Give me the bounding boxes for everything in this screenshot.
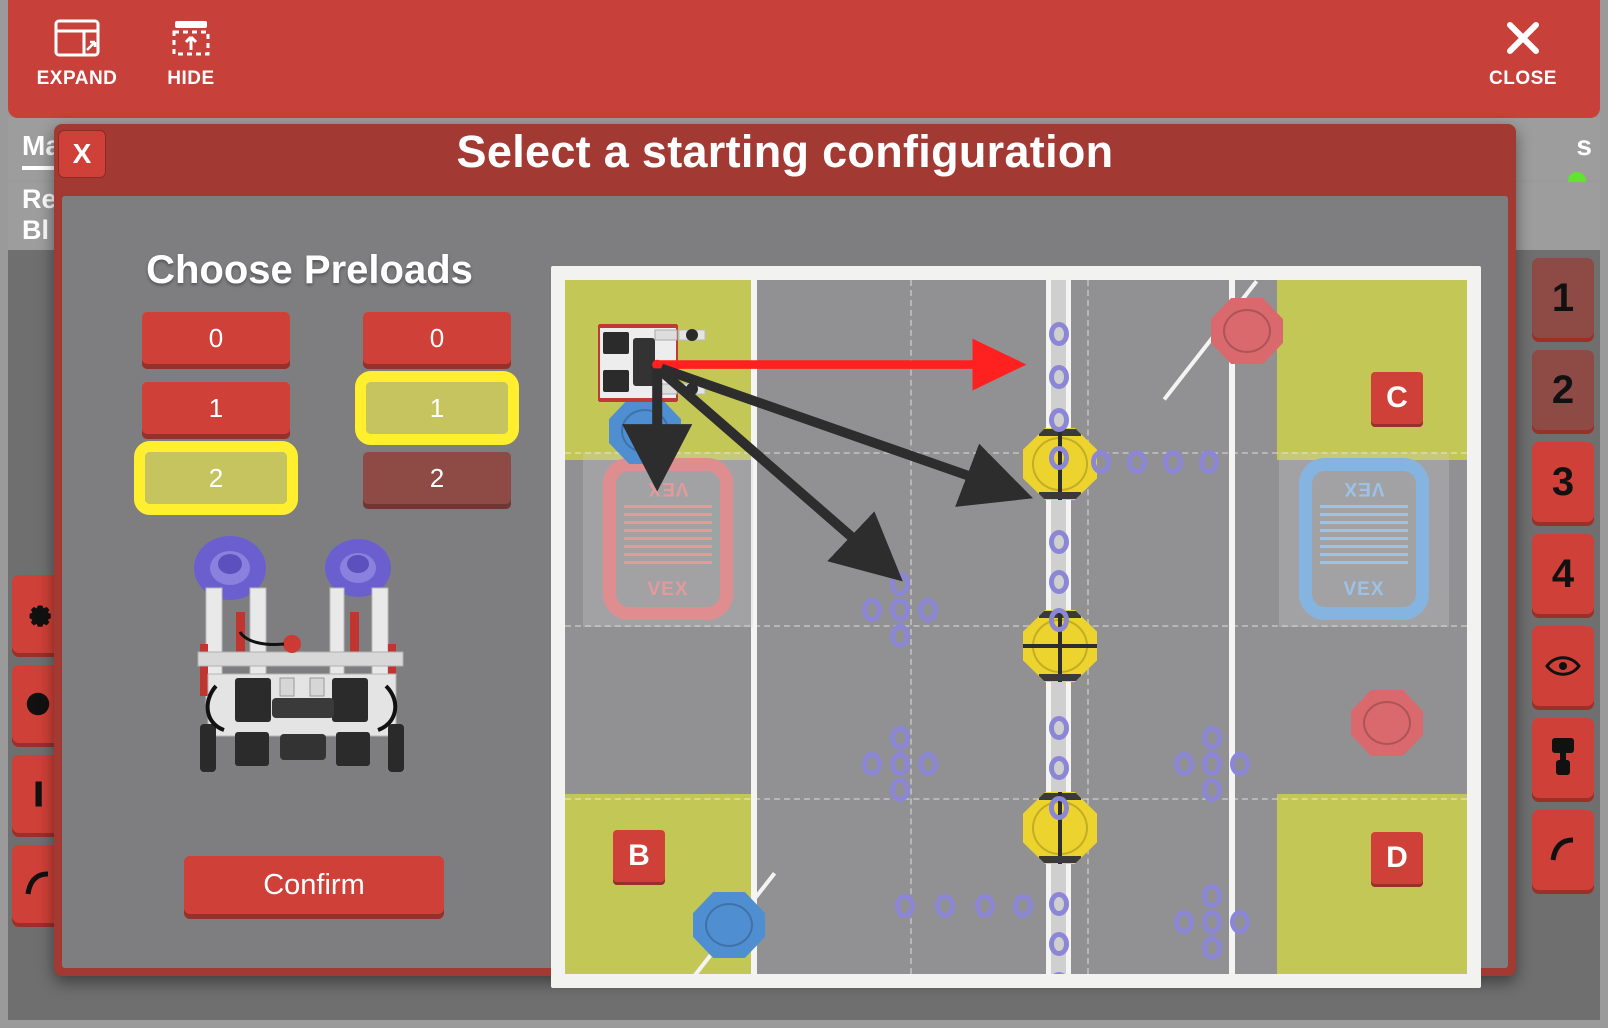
close-button[interactable]: CLOSE	[1482, 14, 1564, 90]
dumbbell-icon-button[interactable]	[1532, 718, 1594, 798]
ring-center-11	[1049, 892, 1069, 916]
eye-icon-button[interactable]	[1532, 626, 1594, 706]
expand-button[interactable]: EXPAND	[30, 14, 124, 90]
ring-cluster-ul-left	[862, 598, 882, 622]
preload-columns: 0 1 2 0 1 2	[134, 308, 534, 518]
hide-button[interactable]: HIDE	[148, 14, 234, 90]
field-floor[interactable]: VEX VEX VEX	[565, 280, 1467, 974]
ring-center-2	[1049, 365, 1069, 389]
dialog-header: X Select a starting configuration	[54, 124, 1516, 196]
preloads-pane: Choose Preloads 0 1 2 0 1 2	[62, 196, 557, 968]
expand-window-icon	[54, 14, 100, 62]
ring-cluster-mr-center	[1202, 752, 1222, 776]
ring-cluster-mr-bottom	[1202, 778, 1222, 802]
ring-cluster-lr-right	[1230, 910, 1250, 934]
preload-left-1[interactable]: 1	[142, 382, 290, 434]
ring-row-bottom-2	[935, 894, 955, 918]
ring-center-3	[1049, 408, 1069, 432]
ring-cluster-ul-bottom	[890, 624, 910, 648]
red-ladder-label-top: VEX	[616, 477, 720, 499]
red-stake-top-right	[1211, 298, 1283, 364]
ring-cluster-lr-center	[1202, 910, 1222, 934]
ring-cluster-mr-right	[1230, 752, 1250, 776]
ring-row-bottom-1	[895, 894, 915, 918]
zone-bottom-right	[1277, 794, 1467, 974]
ring-cluster-lr-bottom	[1202, 936, 1222, 960]
rail-button-4[interactable]: 4	[1532, 534, 1594, 614]
ring-cluster-ml-right	[918, 752, 938, 776]
ring-center-6	[1049, 570, 1069, 594]
preload-column-right: 0 1 2	[355, 308, 534, 518]
ring-cluster-mr-left	[1174, 752, 1194, 776]
dialog-title: Select a starting configuration	[54, 126, 1516, 178]
rail-button-1[interactable]: 1	[1532, 258, 1594, 338]
ring-center-1	[1049, 322, 1069, 346]
ring-cluster-ml-bottom	[890, 778, 910, 802]
position-tag-d[interactable]: D	[1371, 832, 1423, 884]
robot-start-marker	[593, 322, 711, 404]
tile-grid-v2	[910, 280, 912, 974]
ring-cluster-mr-top	[1202, 726, 1222, 750]
white-line-right	[1229, 280, 1235, 974]
ring-cluster-lr-top	[1202, 884, 1222, 908]
close-label: CLOSE	[1489, 68, 1557, 90]
position-tag-c[interactable]: C	[1371, 372, 1423, 424]
ring-center-12	[1049, 932, 1069, 956]
ring-center-4	[1049, 446, 1069, 470]
ring-cluster-ml-top	[890, 726, 910, 750]
blue-stake-top-left	[609, 398, 681, 464]
top-toolbar: EXPAND HIDE CLOSE	[8, 0, 1600, 118]
ring-row-top-4	[1199, 450, 1219, 474]
ring-row-top-2	[1127, 450, 1147, 474]
preload-right-0[interactable]: 0	[363, 312, 511, 364]
preload-column-left: 0 1 2	[134, 308, 313, 518]
rail-button-2[interactable]: 2	[1532, 350, 1594, 430]
curve-icon-button-right[interactable]	[1532, 810, 1594, 890]
preload-left-0[interactable]: 0	[142, 312, 290, 364]
blue-ladder-label-top: VEX	[1312, 477, 1416, 499]
starting-configuration-dialog: X Select a starting configuration Choose…	[54, 124, 1516, 976]
ring-row-bottom-4	[1013, 894, 1033, 918]
confirm-button[interactable]: Confirm	[184, 856, 444, 914]
red-ladder: VEX VEX	[603, 458, 733, 620]
ring-cluster-ml-center	[890, 752, 910, 776]
ring-cluster-ul-right	[918, 598, 938, 622]
dialog-body: Choose Preloads 0 1 2 0 1 2	[62, 196, 1508, 968]
blue-ladder: VEX VEX	[1299, 458, 1429, 620]
hide-panel-icon	[170, 14, 212, 62]
red-stake-bottom-right	[1351, 690, 1423, 756]
tab-right-partial[interactable]: s	[1576, 130, 1592, 162]
ring-cluster-ul-center	[890, 598, 910, 622]
ring-row-bottom-3	[975, 894, 995, 918]
ring-center-5	[1049, 530, 1069, 554]
ring-cluster-ul-top	[890, 572, 910, 596]
expand-label: EXPAND	[37, 68, 118, 90]
ring-cluster-lr-left	[1174, 910, 1194, 934]
ring-center-10	[1049, 796, 1069, 820]
white-line-left	[751, 280, 757, 974]
red-ladder-label-bottom: VEX	[616, 579, 720, 601]
zone-top-right	[1277, 280, 1467, 460]
ring-cluster-ml-left	[862, 752, 882, 776]
ring-row-top-1	[1091, 450, 1111, 474]
blue-ladder-label-bottom: VEX	[1312, 579, 1416, 601]
right-tool-rail: 1 2 3 4	[1532, 258, 1594, 902]
rail-button-3[interactable]: 3	[1532, 442, 1594, 522]
close-x-icon	[1503, 14, 1543, 62]
field-border: VEX VEX VEX	[551, 266, 1481, 988]
preload-right-2[interactable]: 2	[363, 452, 511, 504]
ring-row-top-3	[1163, 450, 1183, 474]
robot-preview-image	[180, 526, 440, 776]
choose-preloads-heading: Choose Preloads	[62, 248, 557, 293]
ring-center-8	[1049, 716, 1069, 740]
position-tag-b[interactable]: B	[613, 830, 665, 882]
hide-label: HIDE	[167, 68, 214, 90]
field-preview: VEX VEX VEX	[551, 266, 1481, 988]
ring-center-7	[1049, 608, 1069, 632]
blue-stake-bottom-left	[693, 892, 765, 958]
preload-right-1[interactable]: 1	[366, 382, 508, 434]
ring-center-9	[1049, 756, 1069, 780]
tile-grid-h3	[565, 798, 1467, 800]
preload-left-2[interactable]: 2	[145, 452, 287, 504]
